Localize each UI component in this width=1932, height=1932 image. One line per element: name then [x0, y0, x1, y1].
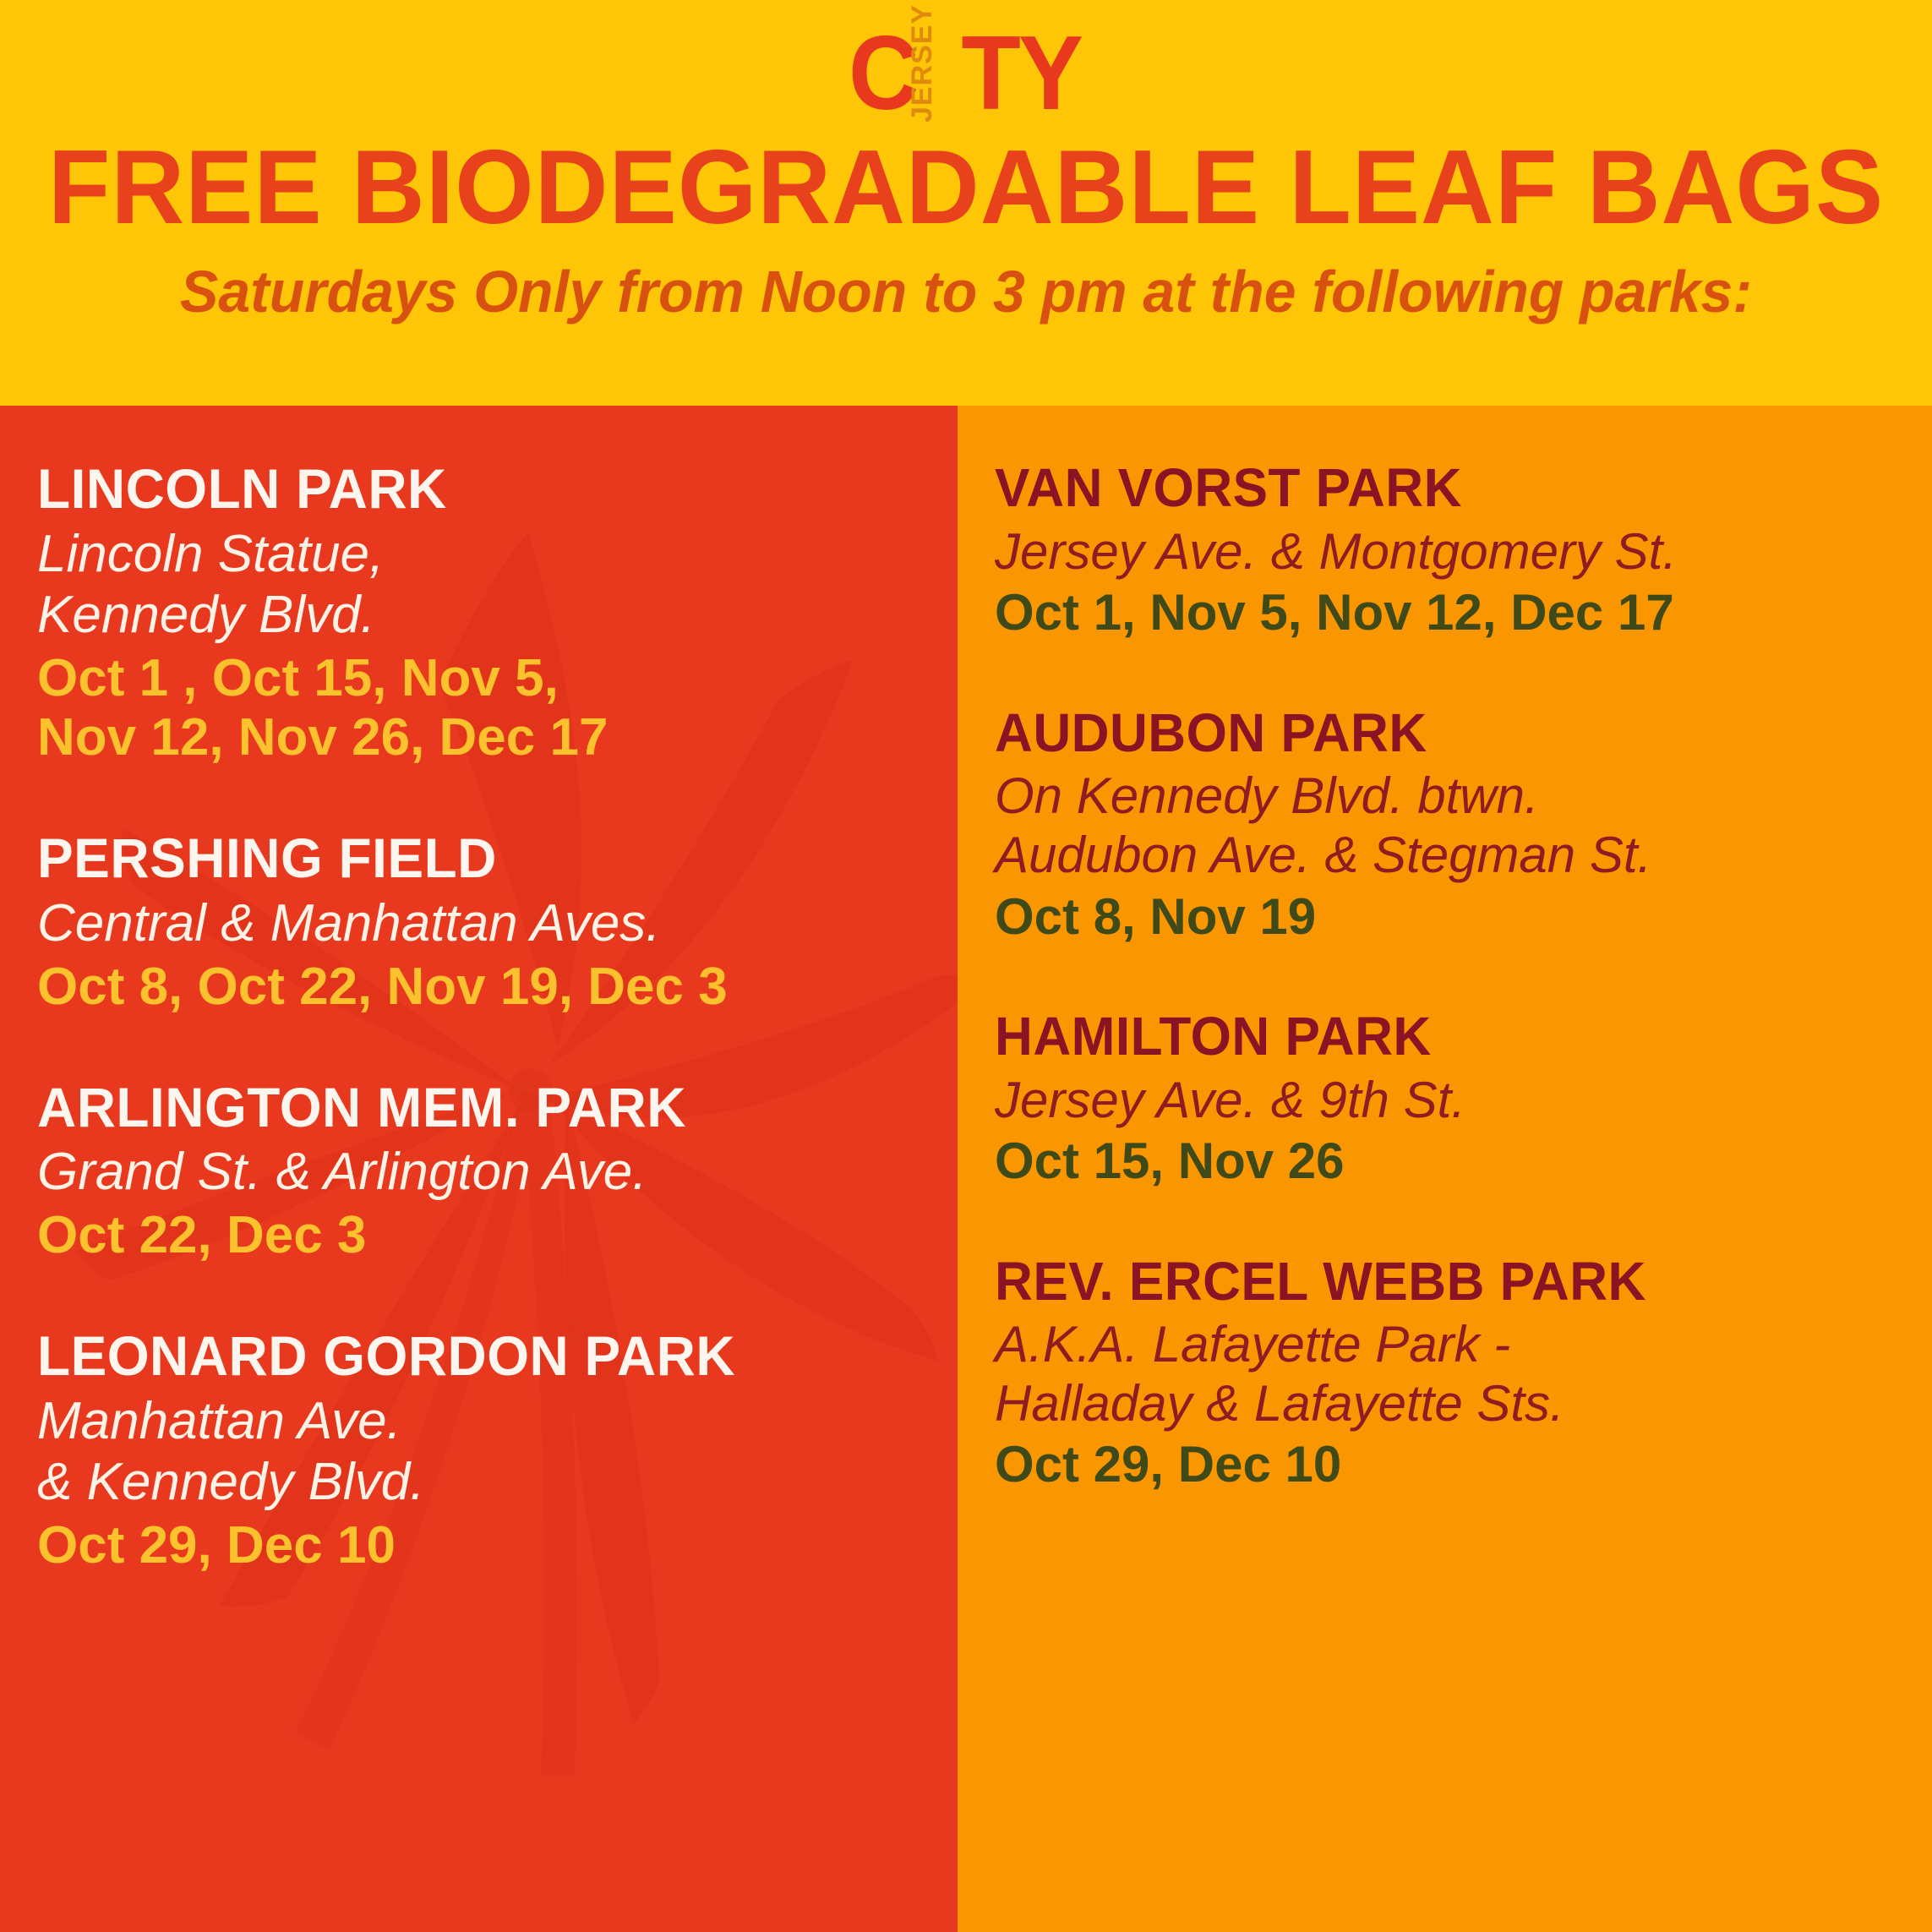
park-address: Jersey Ave. & Montgomery St. — [995, 522, 1910, 581]
park-entry: PERSHING FIELD Central & Manhattan Aves.… — [37, 827, 932, 1017]
park-dates: Oct 22, Dec 3 — [37, 1206, 932, 1266]
park-dates: Oct 29, Dec 10 — [37, 1516, 932, 1576]
logo-letters-ty: TY — [961, 21, 1081, 126]
park-dates: Oct 1 , Oct 15, Nov 5, Nov 12, Nov 26, D… — [37, 649, 932, 768]
park-dates: Oct 29, Dec 10 — [995, 1436, 1910, 1493]
right-entries-list: VAN VORST PARK Jersey Ave. & Montgomery … — [995, 458, 1910, 1494]
park-name: HAMILTON PARK — [995, 1007, 1883, 1067]
logo-jersey-text: JERSEY — [908, 4, 936, 123]
park-entry: AUDUBON PARK On Kennedy Blvd. btwn. Audu… — [995, 703, 1910, 946]
park-address: Manhattan Ave. & Kennedy Blvd. — [37, 1391, 932, 1513]
park-name: AUDUBON PARK — [995, 703, 1883, 764]
poster-header: C JERSEY TY FREE BIODEGRADABLE LEAF BAGS… — [0, 0, 1932, 406]
page-subtitle: Saturdays Only from Noon to 3 pm at the … — [29, 262, 1902, 321]
park-name: LEONARD GORDON PARK — [37, 1325, 905, 1388]
jersey-city-logo: C JERSEY TY — [0, 20, 1932, 127]
park-entry: REV. ERCEL WEBB PARK A.K.A. Lafayette Pa… — [995, 1252, 1910, 1494]
right-park-column: VAN VORST PARK Jersey Ave. & Montgomery … — [958, 406, 1932, 1932]
left-park-column: LINCOLN PARK Lincoln Statue, Kennedy Blv… — [0, 406, 958, 1932]
page-title: FREE BIODEGRADABLE LEAF BAGS — [29, 135, 1902, 240]
logo-jersey-rotated-wrap: JERSEY — [920, 21, 957, 126]
park-entry: LINCOLN PARK Lincoln Statue, Kennedy Blv… — [37, 458, 932, 768]
park-entry: ARLINGTON MEM. PARK Grand St. & Arlingto… — [37, 1077, 932, 1266]
park-dates: Oct 8, Nov 19 — [995, 888, 1910, 946]
park-address: Lincoln Statue, Kennedy Blvd. — [37, 524, 932, 646]
park-dates: Oct 1, Nov 5, Nov 12, Dec 17 — [995, 584, 1910, 641]
park-name: LINCOLN PARK — [37, 458, 905, 521]
park-address: Grand St. & Arlington Ave. — [37, 1142, 932, 1203]
poster-root: C JERSEY TY FREE BIODEGRADABLE LEAF BAGS… — [0, 0, 1932, 1932]
park-entry: HAMILTON PARK Jersey Ave. & 9th St. Oct … — [995, 1007, 1910, 1191]
park-name: REV. ERCEL WEBB PARK — [995, 1252, 1883, 1313]
park-entry: LEONARD GORDON PARK Manhattan Ave. & Ken… — [37, 1325, 932, 1575]
left-entries-list: LINCOLN PARK Lincoln Statue, Kennedy Blv… — [37, 458, 932, 1575]
park-address: Jersey Ave. & 9th St. — [995, 1071, 1910, 1130]
park-name: PERSHING FIELD — [37, 827, 905, 890]
park-address: On Kennedy Blvd. btwn. Audubon Ave. & St… — [995, 767, 1910, 884]
park-dates: Oct 8, Oct 22, Nov 19, Dec 3 — [37, 958, 932, 1018]
park-entry: VAN VORST PARK Jersey Ave. & Montgomery … — [995, 458, 1910, 642]
park-dates: Oct 15, Nov 26 — [995, 1132, 1910, 1190]
park-address: A.K.A. Lafayette Park - Halladay & Lafay… — [995, 1315, 1910, 1433]
poster-body: LINCOLN PARK Lincoln Statue, Kennedy Blv… — [0, 406, 1932, 1932]
park-address: Central & Manhattan Aves. — [37, 893, 932, 954]
park-name: VAN VORST PARK — [995, 458, 1883, 519]
park-name: ARLINGTON MEM. PARK — [37, 1077, 905, 1139]
